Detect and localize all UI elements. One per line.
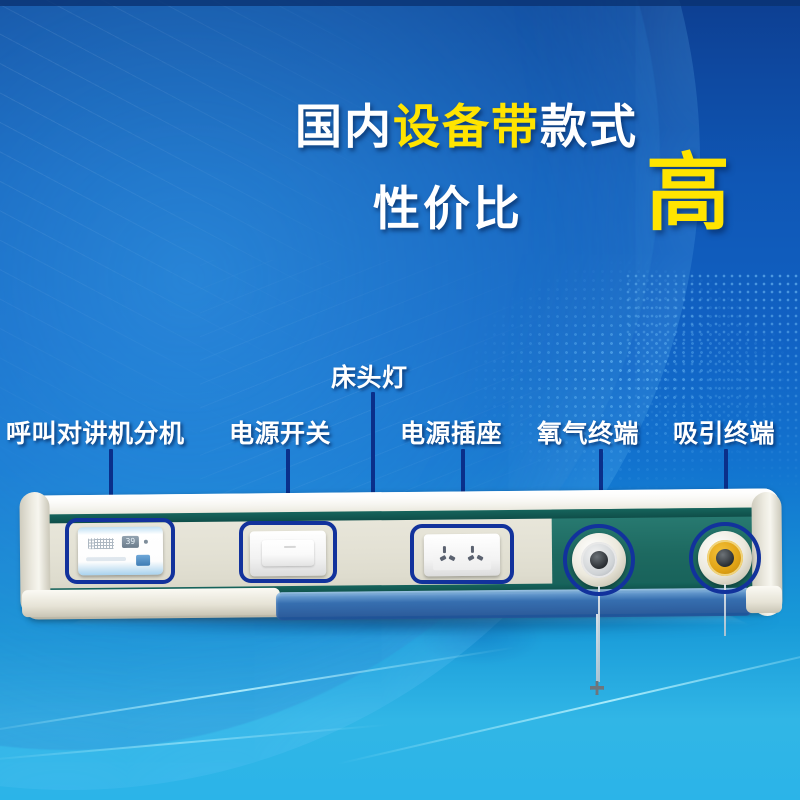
headline-text-kuanshi: 款式 bbox=[540, 100, 638, 155]
headline-big-word: 高 bbox=[646, 151, 730, 235]
headline-block: 国内设备带款式 性价比 高 bbox=[0, 0, 800, 250]
headline-text-guonei: 国内 bbox=[295, 100, 393, 155]
headline-text-xingjiabi: 性价比 bbox=[373, 182, 523, 237]
highlight-box-power-switch bbox=[239, 521, 337, 583]
halftone-dots-right bbox=[624, 272, 800, 496]
headline-line-1: 国内设备带款式 bbox=[295, 88, 638, 157]
callout-label-power-switch: 电源开关 bbox=[229, 414, 331, 450]
highlight-circle-suction bbox=[689, 522, 761, 594]
headline-text-shebeidai: 设备带 bbox=[393, 100, 540, 155]
panel-rail-left bbox=[22, 588, 280, 617]
promo-banner: 国内设备带款式 性价比 高 呼叫对讲机分机 电源开关 床头灯 电源插座 氧气终端… bbox=[0, 0, 800, 800]
callout-label-bed-lamp: 床头灯 bbox=[331, 358, 408, 394]
callout-label-suction: 吸引终端 bbox=[673, 414, 775, 450]
callout-label-intercom: 呼叫对讲机分机 bbox=[6, 414, 185, 450]
headline-line-2: 性价比 bbox=[373, 170, 523, 239]
highlight-box-intercom bbox=[65, 518, 175, 584]
callout-label-oxygen: 氧气终端 bbox=[537, 414, 639, 450]
panel-rail-right bbox=[746, 586, 782, 613]
bed-lamp-pull-cord[interactable] bbox=[596, 614, 598, 686]
panel-equipment-rail bbox=[276, 588, 752, 621]
highlight-circle-oxygen bbox=[563, 524, 635, 596]
highlight-box-power-socket bbox=[410, 524, 514, 584]
callout-label-power-socket: 电源插座 bbox=[400, 414, 502, 450]
oxygen-terminal-cord bbox=[598, 586, 600, 682]
